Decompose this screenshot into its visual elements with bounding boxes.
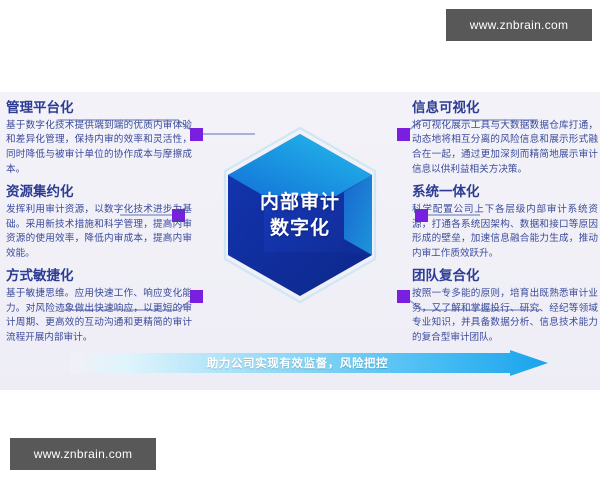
center-hexagon: 内部审计 数字化: [224, 132, 376, 298]
watermark-top: www.znbrain.com: [446, 9, 592, 41]
node-square-right-bottom: [397, 290, 410, 303]
feature-title: 方式敏捷化: [6, 268, 192, 285]
feature-block-agile-method: 方式敏捷化 基于敏捷思维。应用快速工作、响应变化能力。对风险迹象做出快速响应，以…: [6, 268, 192, 345]
feature-block-management-platform: 管理平台化 基于数字化技术提供端到端的优质内审体验和差异化管理，保持内审的效率和…: [6, 100, 192, 177]
left-column: 管理平台化 基于数字化技术提供端到端的优质内审体验和差异化管理，保持内审的效率和…: [6, 100, 192, 346]
feature-body: 按照一专多能的原则，培育出既熟悉审计业务，又了解和掌握投行、研究、经纪等领域专业…: [412, 287, 598, 345]
feature-block-information-visualization: 信息可视化 将可视化展示工具与大数据数据仓库打通，动态地将相互分离的风险信息和展…: [412, 100, 598, 177]
infographic-card: 内部审计 数字化 管理平台化 基于数字化技术提供端到端的优质内审体验和差异化管理…: [0, 92, 600, 390]
feature-body: 科学配置公司上下各层级内部审计系统资源，打通各系统因架构、数据和接口等原因形成的…: [412, 203, 598, 261]
watermark-bottom: www.znbrain.com: [10, 438, 156, 470]
feature-title: 资源集约化: [6, 184, 192, 201]
bottom-arrow-banner: 助力公司实现有效监督，风险把控: [70, 350, 548, 376]
feature-title: 信息可视化: [412, 100, 598, 117]
node-square-right-top: [397, 128, 410, 141]
feature-body: 基于数字化技术提供端到端的优质内审体验和差异化管理，保持内审的效率和灵活性，同时…: [6, 119, 192, 177]
feature-block-system-integration: 系统一体化 科学配置公司上下各层级内部审计系统资源，打通各系统因架构、数据和接口…: [412, 184, 598, 261]
feature-title: 系统一体化: [412, 184, 598, 201]
feature-body: 发挥利用审计资源，以数字化技术进步为基础。采用新技术措施和科学管理，提高内审资源…: [6, 203, 192, 261]
feature-title: 团队复合化: [412, 268, 598, 285]
feature-title: 管理平台化: [6, 100, 192, 117]
feature-block-composite-team: 团队复合化 按照一专多能的原则，培育出既熟悉审计业务，又了解和掌握投行、研究、经…: [412, 268, 598, 345]
feature-body: 基于敏捷思维。应用快速工作、响应变化能力。对风险迹象做出快速响应，以更短的审计周…: [6, 287, 192, 345]
feature-body: 将可视化展示工具与大数据数据仓库打通，动态地将相互分离的风险信息和展示形式融合在…: [412, 119, 598, 177]
feature-block-resource-intensive: 资源集约化 发挥利用审计资源，以数字化技术进步为基础。采用新技术措施和科学管理，…: [6, 184, 192, 261]
right-column: 信息可视化 将可视化展示工具与大数据数据仓库打通，动态地将相互分离的风险信息和展…: [412, 100, 598, 346]
